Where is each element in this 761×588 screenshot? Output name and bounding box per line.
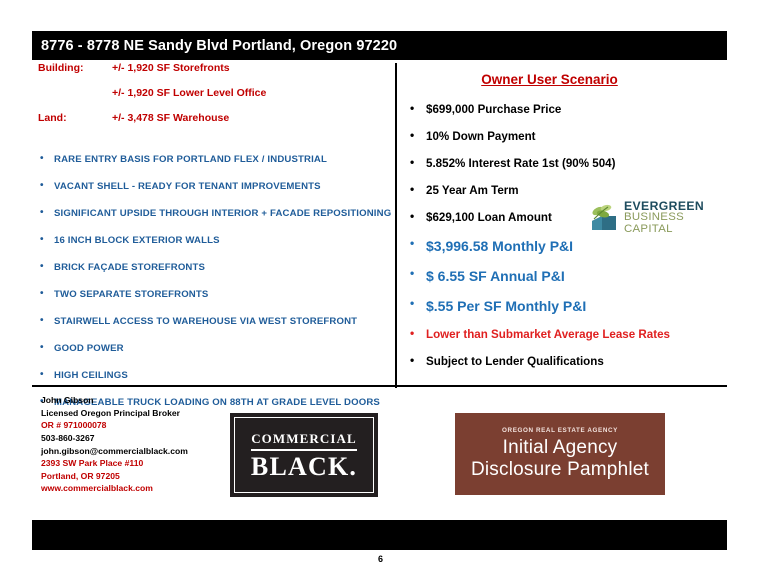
list-item: TWO SEPARATE STOREFRONTS [32, 289, 388, 300]
list-item: $699,000 Purchase Price [400, 103, 727, 116]
pamphlet-line1: Initial Agency [503, 437, 618, 459]
list-item: 16 INCH BLOCK EXTERIOR WALLS [32, 235, 388, 246]
broker-contact-block: John Gibson Licensed Oregon Principal Br… [41, 394, 231, 495]
list-item: 25 Year Am Term [400, 184, 727, 197]
broker-email[interactable]: john.gibson@commercialblack.com [41, 445, 231, 458]
page-title: 8776 - 8778 NE Sandy Blvd Portland, Oreg… [32, 38, 397, 54]
vertical-divider [395, 63, 397, 388]
commercial-black-logo-inner: COMMERCIAL BLACK. [234, 417, 374, 493]
header-bar: 8776 - 8778 NE Sandy Blvd Portland, Oreg… [32, 31, 727, 60]
table-row: +/- 1,920 SF Lower Level Office [38, 87, 266, 112]
broker-name: John Gibson [41, 394, 231, 407]
commercial-black-logo-top: COMMERCIAL [251, 431, 357, 451]
left-column: Building: +/- 1,920 SF Storefronts +/- 1… [32, 62, 388, 424]
spec-value: +/- 1,920 SF Lower Level Office [110, 87, 266, 112]
commercial-black-logo-bottom: BLACK. [251, 454, 357, 480]
spec-value: +/- 3,478 SF Warehouse [110, 112, 266, 137]
evergreen-business-capital-logo: EVERGREEN BUSINESS CAPITAL [588, 200, 716, 236]
property-features-list: RARE ENTRY BASIS FOR PORTLAND FLEX / IND… [32, 154, 388, 408]
footer-bar [32, 520, 727, 550]
pamphlet-line2: Disclosure Pamphlet [471, 459, 649, 481]
list-item: VACANT SHELL - READY FOR TENANT IMPROVEM… [32, 181, 388, 192]
table-row: Land: +/- 3,478 SF Warehouse [38, 112, 266, 137]
evergreen-logo-line2: BUSINESS CAPITAL [624, 212, 716, 236]
list-item: 10% Down Payment [400, 130, 727, 143]
list-item: RARE ENTRY BASIS FOR PORTLAND FLEX / IND… [32, 154, 388, 165]
evergreen-leaf-icon [588, 203, 620, 233]
initial-agency-disclosure-pamphlet-banner[interactable]: OREGON REAL ESTATE AGENCY Initial Agency… [455, 413, 665, 495]
list-item: STAIRWELL ACCESS TO WAREHOUSE VIA WEST S… [32, 316, 388, 327]
evergreen-logo-text: EVERGREEN BUSINESS CAPITAL [624, 200, 716, 236]
spec-label [38, 87, 110, 112]
slide-page: 8776 - 8778 NE Sandy Blvd Portland, Oreg… [0, 0, 761, 588]
spec-label: Building: [38, 62, 110, 87]
list-item: GOOD POWER [32, 343, 388, 354]
property-specs-table: Building: +/- 1,920 SF Storefronts +/- 1… [38, 62, 266, 137]
page-number: 6 [0, 554, 761, 564]
spec-value: +/- 1,920 SF Storefronts [110, 62, 266, 87]
commercial-black-logo: COMMERCIAL BLACK. [230, 413, 378, 497]
list-item: BRICK FAÇADE STOREFRONTS [32, 262, 388, 273]
office-address-line2: Portland, OR 97205 [41, 470, 231, 483]
broker-credential: Licensed Oregon Principal Broker [41, 407, 231, 420]
list-item: $3,996.58 Monthly P&I [400, 238, 727, 254]
list-item: SIGNIFICANT UPSIDE THROUGH INTERIOR + FA… [32, 208, 388, 219]
pamphlet-kicker: OREGON REAL ESTATE AGENCY [502, 427, 618, 434]
list-item: $.55 Per SF Monthly P&I [400, 298, 727, 314]
broker-license: OR # 971000078 [41, 419, 231, 432]
spec-label: Land: [38, 112, 110, 137]
table-row: Building: +/- 1,920 SF Storefronts [38, 62, 266, 87]
list-item: HIGH CEILINGS [32, 370, 388, 381]
list-item: $ 6.55 SF Annual P&I [400, 268, 727, 284]
office-website[interactable]: www.commercialblack.com [41, 482, 231, 495]
owner-user-scenario-title: Owner User Scenario [400, 72, 727, 87]
broker-phone[interactable]: 503-860-3267 [41, 432, 231, 445]
list-item: Subject to Lender Qualifications [400, 355, 727, 368]
list-item: 5.852% Interest Rate 1st (90% 504) [400, 157, 727, 170]
office-address-line1: 2393 SW Park Place #110 [41, 457, 231, 470]
list-item: Lower than Submarket Average Lease Rates [400, 328, 727, 341]
